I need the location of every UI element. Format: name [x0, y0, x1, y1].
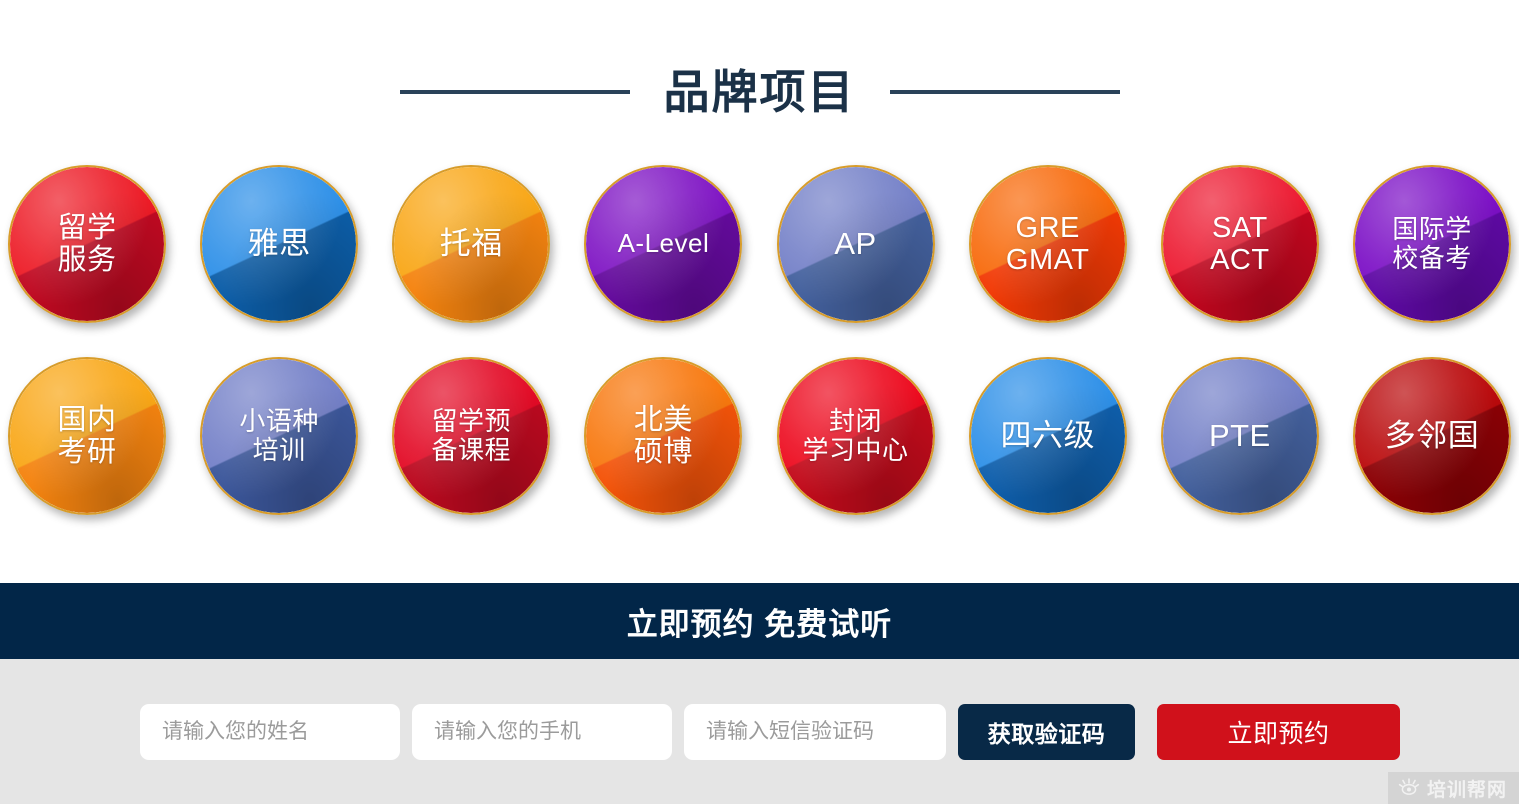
page-title: 品牌项目 [664, 69, 856, 115]
program-bubble[interactable]: 小语种 培训 [200, 357, 358, 515]
section-header: 品牌项目 [0, 0, 1519, 165]
program-bubble[interactable]: 国内 考研 [8, 357, 166, 515]
program-bubble[interactable]: 托福 [392, 165, 550, 323]
program-label: PTE [1201, 419, 1279, 454]
program-bubble[interactable]: 四六级 [969, 357, 1127, 515]
program-bubble[interactable]: 留学 服务 [8, 165, 166, 323]
submit-appointment-button[interactable]: 立即预约 [1157, 704, 1400, 760]
program-label: 小语种 培训 [231, 407, 327, 465]
program-bubble[interactable]: 北美 硕博 [584, 357, 742, 515]
cta-banner-title: 立即预约 免费试听 [627, 599, 893, 644]
program-bubble[interactable]: A-Level [584, 165, 742, 323]
name-input[interactable] [140, 704, 400, 760]
program-label: AP [826, 227, 884, 262]
get-verification-code-button[interactable]: 获取验证码 [958, 704, 1135, 760]
program-label: 多邻国 [1377, 419, 1488, 454]
program-bubble[interactable]: 雅思 [200, 165, 358, 323]
cta-banner: 立即预约 免费试听 [0, 583, 1519, 659]
program-bubble[interactable]: GRE GMAT [969, 165, 1127, 323]
program-label: 国内 考研 [49, 404, 124, 469]
phone-input[interactable] [412, 704, 672, 760]
program-label: 托福 [432, 227, 511, 262]
program-label: GRE GMAT [998, 212, 1098, 277]
title-rule-right [890, 90, 1120, 94]
program-label: A-Level [610, 229, 718, 258]
program-label: 留学预 备课程 [424, 407, 520, 465]
sun-eye-icon [1398, 777, 1420, 799]
program-label: 留学 服务 [49, 212, 124, 277]
program-row-2: 国内 考研 小语种 培训 留学预 备课程 北美 硕博 封闭 学习中心 四六级 [8, 357, 1511, 515]
program-label: 国际学 校备考 [1384, 215, 1480, 273]
program-label: 北美 硕博 [626, 404, 701, 469]
program-bubble[interactable]: 留学预 备课程 [392, 357, 550, 515]
watermark-text: 培训帮网 [1427, 775, 1507, 802]
program-bubble[interactable]: SAT ACT [1161, 165, 1319, 323]
program-label: SAT ACT [1202, 212, 1278, 277]
program-label: 封闭 学习中心 [795, 407, 917, 465]
program-row-1: 留学 服务 雅思 托福 A-Level AP GRE GMAT [8, 165, 1511, 323]
program-bubble[interactable]: AP [777, 165, 935, 323]
program-bubble[interactable]: 多邻国 [1353, 357, 1511, 515]
site-watermark: 培训帮网 [1388, 772, 1519, 804]
sms-code-input[interactable] [684, 704, 946, 760]
program-grid: 留学 服务 雅思 托福 A-Level AP GRE GMAT [0, 165, 1519, 515]
program-bubble[interactable]: 国际学 校备考 [1353, 165, 1511, 323]
appointment-form: 获取验证码 立即预约 [0, 659, 1519, 804]
program-bubble[interactable]: 封闭 学习中心 [777, 357, 935, 515]
program-label: 雅思 [240, 227, 319, 262]
title-rule-left [400, 90, 630, 94]
program-bubble[interactable]: PTE [1161, 357, 1319, 515]
program-label: 四六级 [992, 419, 1103, 454]
